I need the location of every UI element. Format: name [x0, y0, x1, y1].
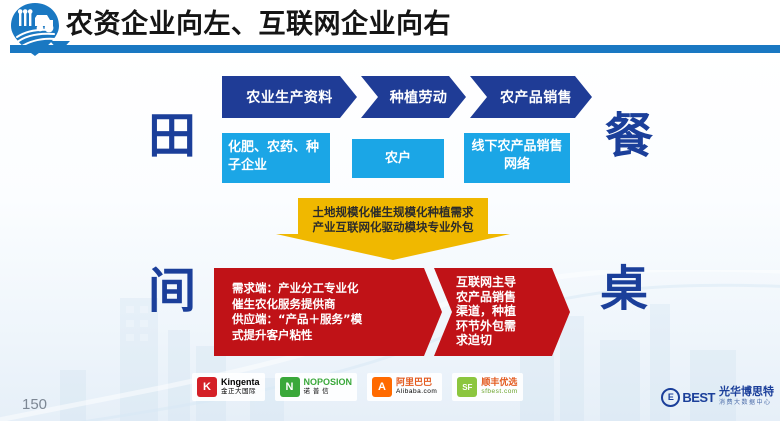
glyph-table-top-right: 餐: [605, 112, 653, 160]
conclusion-right-line-5: 求迫切: [456, 333, 560, 348]
brand-chinese: 光华博思特 消费大数据中心: [719, 386, 774, 408]
brand-name-cn: 光华博思特: [719, 386, 774, 397]
logo-kingenta-cn: 金正大国际: [221, 387, 260, 396]
conclusion-right-line-2: 农产品销售: [456, 290, 560, 305]
logo-noposion-cn: 诺 普 信: [304, 387, 353, 396]
brand-logo: E BEST 光华博思特 消费大数据中心: [661, 382, 774, 412]
player-box-offline-sales: 线下农产品销售网络: [464, 133, 570, 183]
logo-alibaba: A 阿里巴巴 Alibaba.com: [367, 373, 442, 401]
logo-kingenta-en: Kingenta: [221, 378, 260, 387]
glyph-field-top-left: 田: [148, 112, 196, 160]
callout-line-2: 产业互联网化驱动模块专业外包: [276, 220, 510, 235]
logo-sfbest-en: sfbest.com: [481, 387, 517, 396]
partner-logo-strip: K Kingenta 金正大国际 N NOPOSION 诺 普 信 A 阿里巴巴…: [192, 370, 572, 404]
chevron-step-1: 农业生产资料: [222, 76, 357, 118]
logo-sfbest: SF 顺丰优选 sfbest.com: [452, 373, 522, 401]
logo-sfbest-cn: 顺丰优选: [481, 378, 517, 387]
logo-noposion-en: NOPOSION: [304, 378, 353, 387]
callout-text: 土地规模化催生规模化种植需求 产业互联网化驱动模块专业外包: [276, 205, 510, 235]
conclusion-right-line-1: 互联网主导: [456, 275, 560, 290]
glyph-field-bottom-left: 间: [148, 267, 196, 315]
chevron-step-2-label: 种植劳动: [390, 87, 448, 107]
logo-alibaba-en: Alibaba.com: [396, 387, 437, 396]
conclusion-left-line-4: 式提升客户粘性: [232, 328, 427, 344]
chevron-step-3-label: 农产品销售: [500, 87, 572, 107]
chevron-step-1-label: 农业生产资料: [246, 87, 332, 107]
conclusion-right-line-4: 环节外包需: [456, 319, 560, 334]
player-box-farmers: 农户: [352, 139, 444, 178]
conclusion-left-line-3: 供应端：“产品＋服务”模: [232, 312, 427, 328]
kingenta-mark-icon: K: [197, 377, 217, 397]
chevron-step-3: 农产品销售: [470, 76, 592, 118]
page-number: 150: [22, 396, 47, 413]
brand-sub-cn: 消费大数据中心: [719, 397, 774, 408]
page-title: 农资企业向左、互联网企业向右: [66, 4, 451, 44]
value-chain-chevrons: 农业生产资料 种植劳动 农产品销售: [222, 76, 562, 118]
logo-alibaba-cn: 阿里巴巴: [396, 378, 437, 387]
conclusion-left-line-1: 需求端：产业分工专业化: [232, 281, 427, 297]
alibaba-mark-icon: A: [372, 377, 392, 397]
conclusion-right-line-3: 渠道，种植: [456, 304, 560, 319]
conclusion-left-text: 需求端：产业分工专业化 催生农化服务提供商 供应端：“产品＋服务”模 式提升客户…: [232, 281, 427, 343]
logo-kingenta: K Kingenta 金正大国际: [192, 373, 265, 401]
brand-e-icon: E: [661, 388, 680, 407]
brand-latin: BEST: [682, 390, 715, 405]
header-rule: [10, 45, 780, 53]
chevron-step-2: 种植劳动: [361, 76, 466, 118]
glyph-table-bottom-right: 桌: [600, 265, 648, 313]
callout-line-1: 土地规模化催生规模化种植需求: [276, 205, 510, 220]
conclusion-left-line-2: 催生农化服务提供商: [232, 297, 427, 313]
logo-noposion: N NOPOSION 诺 普 信: [275, 373, 358, 401]
slide-canvas: 农资企业向左、互联网企业向右 田 间 餐 桌 农业生产资料 种植劳动 农产品销售…: [0, 0, 780, 421]
sfbest-mark-icon: SF: [457, 377, 477, 397]
noposion-mark-icon: N: [280, 377, 300, 397]
brand-best-lockup: E BEST: [661, 388, 715, 407]
slide-header: 农资企业向左、互联网企业向右: [0, 0, 780, 52]
player-box-inputs: 化肥、农药、种子企业: [222, 133, 330, 183]
conclusion-right-text: 互联网主导 农产品销售 渠道，种植 环节外包需 求迫切: [456, 275, 560, 348]
